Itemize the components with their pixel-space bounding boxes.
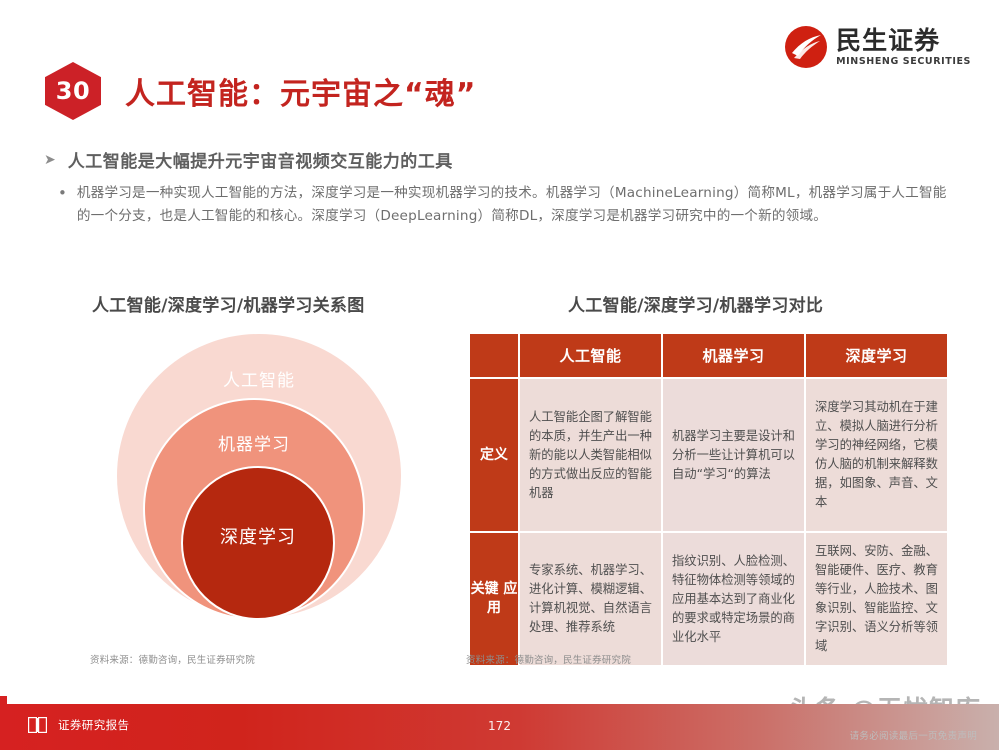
brand-logo: 民生证券 MINSHENG SECURITIES	[785, 26, 971, 68]
table-row-label-definition: 定义	[470, 379, 518, 531]
venn-ring-dl-label: 深度学习	[220, 523, 296, 618]
table-row: 定义 人工智能企图了解智能的本质，并生产出一种新的能以人类智能相似的方式做出反应…	[470, 379, 947, 531]
footer-left-edge-stripe	[0, 696, 7, 750]
footer-page-number: 172	[488, 719, 511, 733]
table-cell-applications-dl: 互联网、安防、金融、智能硬件、医疗、教育等行业，人脸技术、图象识别、智能监控、文…	[806, 533, 947, 665]
table-cell-definition-ai: 人工智能企图了解智能的本质，并生产出一种新的能以人类智能相似的方式做出反应的智能…	[520, 379, 661, 531]
venn-section-title: 人工智能/深度学习/机器学习关系图	[92, 291, 365, 316]
lead-heading: 人工智能是大幅提升元宇宙音视频交互能力的工具	[68, 147, 453, 172]
table-cell-definition-dl: 深度学习其动机在于建立、模拟人脑进行分析学习的神经网络，它模仿人脑的机制来解释数…	[806, 379, 947, 531]
table-cell-definition-ml: 机器学习主要是设计和分析一些让计算机可以自动“学习“的算法	[663, 379, 804, 531]
venn-diagram: 人工智能 机器学习 深度学习	[115, 332, 403, 620]
lead-paragraph: 机器学习是一种实现人工智能的方法，深度学习是一种实现机器学习的技术。机器学习（M…	[77, 182, 948, 228]
table-row-label-key-applications: 关键 应用	[470, 533, 518, 665]
footer-disclaimer: 请务必阅读最后一页免责声明	[850, 728, 977, 742]
table-col-header-ml: 机器学习	[663, 334, 804, 377]
minsheng-swoosh-logo-icon	[785, 26, 827, 68]
bullet-dot-icon: •	[58, 182, 67, 204]
table-row: 关键 应用 专家系统、机器学习、进化计算、模糊逻辑、计算机视觉、自然语言处理、推…	[470, 533, 947, 665]
table-cell-applications-ai: 专家系统、机器学习、进化计算、模糊逻辑、计算机视觉、自然语言处理、推荐系统	[520, 533, 661, 665]
lead-paragraph-row: • 机器学习是一种实现人工智能的方法，深度学习是一种实现机器学习的技术。机器学习…	[58, 182, 948, 228]
table-header-row: 人工智能 机器学习 深度学习	[470, 334, 947, 377]
comparison-table: 人工智能 机器学习 深度学习 定义 人工智能企图了解智能的本质，并生产出一种新的…	[468, 332, 949, 667]
comparison-source-note: 资料来源：德勤咨询，民生证券研究院	[466, 652, 631, 666]
section-number: 30	[56, 77, 90, 105]
table-col-header-ai: 人工智能	[520, 334, 661, 377]
section-number-badge: 30	[45, 62, 101, 120]
slide-canvas: 民生证券 MINSHENG SECURITIES 30 人工智能：元宇宙之“魂”…	[0, 0, 999, 750]
brand-name-en: MINSHENG SECURITIES	[836, 57, 971, 67]
page-title: 人工智能：元宇宙之“魂”	[125, 69, 476, 113]
table-corner-cell	[470, 334, 518, 377]
table-col-header-dl: 深度学习	[806, 334, 947, 377]
table-cell-applications-ml: 指纹识别、人脸检测、特征物体检测等领域的应用基本达到了商业化的要求或特定场景的商…	[663, 533, 804, 665]
footer-label: 证券研究报告	[58, 717, 129, 733]
chevron-right-icon: ➤	[44, 153, 56, 167]
venn-source-note: 资料来源：德勤咨询，民生证券研究院	[90, 652, 255, 666]
slide-title-row: 30 人工智能：元宇宙之“魂”	[45, 62, 476, 120]
lead-heading-row: ➤ 人工智能是大幅提升元宇宙音视频交互能力的工具	[44, 147, 453, 172]
footer-brand-group: 证券研究报告	[28, 717, 129, 733]
footer-bar: 证券研究报告 172 请务必阅读最后一页免责声明	[0, 704, 999, 750]
comparison-section-title: 人工智能/深度学习/机器学习对比	[568, 291, 823, 316]
venn-ring-dl: 深度学习	[181, 466, 335, 620]
brand-name-cn: 民生证券	[836, 28, 971, 53]
open-book-icon	[28, 717, 47, 733]
